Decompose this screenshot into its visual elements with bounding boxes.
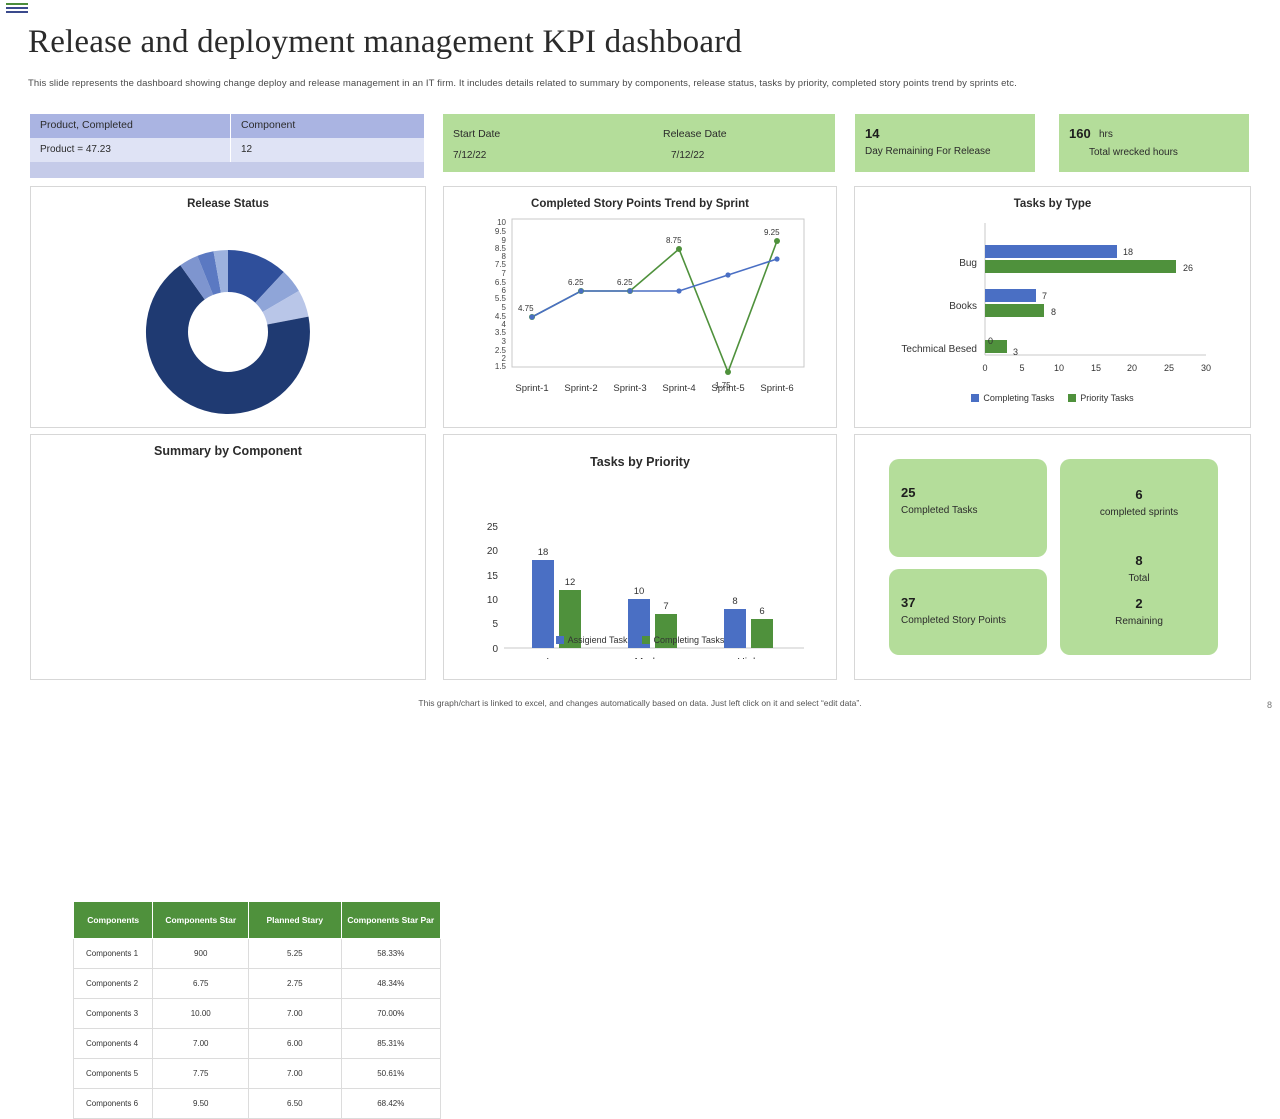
table-row: Product = 47.23 12 <box>30 138 424 162</box>
kpi-remaining-value: 2 <box>1060 596 1218 611</box>
kpi-story-points-label: Completed Story Points <box>901 615 1006 626</box>
cell-star: 6.75 <box>153 969 249 999</box>
kpi-cards-panel: 25 Completed Tasks 37 Completed Story Po… <box>854 434 1251 680</box>
th-components-star-par: Components Star Par <box>341 902 440 939</box>
cell-planned: 7.00 <box>249 1059 341 1089</box>
legend-item-completing-tasks: Completing Tasks <box>971 393 1054 403</box>
x-tick-5: 5 <box>1019 363 1024 373</box>
cell-par: 48.34% <box>341 969 440 999</box>
product-component-table: Product, Completed Component Product = 4… <box>30 114 424 178</box>
bar-value-medium-assigned: 10 <box>634 586 645 597</box>
story-points-line-chart: 10 9.5 9 8.5 8 7.5 7 6.5 6 5.5 5 4.5 4 3… <box>444 213 836 423</box>
bar-value-high-assigned: 8 <box>732 596 737 607</box>
bar-value-bug-completing: 18 <box>1123 247 1133 257</box>
footnote: This graph/chart is linked to excel, and… <box>0 698 1280 708</box>
cat-label-technical: Techmical Besed <box>901 344 977 355</box>
kpi-wrecked-hours: 160 hrs Total wrecked hours <box>1059 114 1249 172</box>
tasks-by-type-card: Tasks by Type 18 26 7 8 0 3 Bug Books Te… <box>854 186 1251 428</box>
tasks-by-type-bar-chart: 18 26 7 8 0 3 Bug Books Techmical Besed … <box>855 213 1250 403</box>
cell-par: 85.31% <box>341 1029 440 1059</box>
story-points-trend-card: Completed Story Points Trend by Sprint 1… <box>443 186 837 428</box>
table-footer-band <box>30 162 424 178</box>
release-status-donut: For tech review (1) (2.70%) In Progress … <box>31 219 425 424</box>
kpi-remaining-label: Remaining <box>1060 616 1218 627</box>
td-component-value: 12 <box>230 138 424 162</box>
tasks-by-type-title: Tasks by Type <box>855 198 1250 210</box>
x-tick-20: 20 <box>1127 363 1137 373</box>
bar-value-tech-completing: 0 <box>988 336 993 346</box>
cat-label-high: High <box>737 656 759 659</box>
logo-mark <box>0 0 32 18</box>
x-tick-15: 15 <box>1091 363 1101 373</box>
tasks-by-priority-title: Tasks by Priority <box>444 455 836 469</box>
page-title: Release and deployment management KPI da… <box>28 24 742 61</box>
release-date-value: 7/12/22 <box>671 150 704 161</box>
release-status-card: Release Status For tech review (1) (2.70… <box>30 186 426 428</box>
cell-planned: 6.00 <box>249 1029 341 1059</box>
cell-star: 9.50 <box>153 1089 249 1119</box>
table-row: Components 57.757.0050.61% <box>74 1059 441 1089</box>
point-label-6: 9.25 <box>764 228 780 237</box>
table-row: Components 26.752.7548.34% <box>74 969 441 999</box>
kpi-completed-tasks-label: Completed Tasks <box>901 505 978 516</box>
cell-component: Components 3 <box>74 999 153 1029</box>
kpi-sprints-panel: 6 completed sprints 8 Total 2 Remaining <box>1060 459 1218 655</box>
wrecked-hours-label: Total wrecked hours <box>1089 147 1178 158</box>
th-planned-stary: Planned Stary <box>249 902 341 939</box>
summary-header-row: Components Components Star Planned Stary… <box>74 902 441 939</box>
cell-par: 50.61% <box>341 1059 440 1089</box>
start-date-label: Start Date <box>453 128 500 140</box>
cell-component: Components 6 <box>74 1089 153 1119</box>
th-components-star: Components Star <box>153 902 249 939</box>
y-tick-5: 5 <box>492 619 498 630</box>
cat-label-low: Low <box>546 656 566 659</box>
svg-text:9.5: 9.5 <box>495 227 507 236</box>
x-tick-25: 25 <box>1164 363 1174 373</box>
cell-star: 7.00 <box>153 1029 249 1059</box>
svg-text:7.5: 7.5 <box>495 260 507 269</box>
tasks-by-type-legend: Completing Tasks Priority Tasks <box>855 393 1250 403</box>
cell-star: 900 <box>153 939 249 969</box>
svg-text:1.5: 1.5 <box>495 362 507 371</box>
th-components: Components <box>74 902 153 939</box>
y-tick-0: 0 <box>492 644 498 655</box>
table-row: Components 310.007.0070.00% <box>74 999 441 1029</box>
days-remaining-label: Day Remaining For Release <box>865 146 991 157</box>
x-tick-sprint-4: Sprint-4 <box>662 383 695 394</box>
svg-text:7: 7 <box>502 269 507 278</box>
th-component: Component <box>230 114 424 138</box>
cell-component: Components 2 <box>74 969 153 999</box>
kpi-total-label: Total <box>1060 573 1218 584</box>
x-tick-0: 0 <box>982 363 987 373</box>
x-tick-sprint-6: Sprint-6 <box>760 383 793 394</box>
legend-item-assigned-task: Assigiend Task <box>556 635 628 645</box>
days-remaining-value: 14 <box>865 126 879 141</box>
cat-label-books: Books <box>949 301 977 312</box>
dates-panel: Start Date Release Date 7/12/22 7/12/22 <box>443 114 835 172</box>
x-tick-sprint-3: Sprint-3 <box>613 383 646 394</box>
cell-planned: 2.75 <box>249 969 341 999</box>
cell-planned: 5.25 <box>249 939 341 969</box>
bar-value-books-completing: 7 <box>1042 291 1047 301</box>
cell-component: Components 4 <box>74 1029 153 1059</box>
bar-value-medium-completing: 7 <box>663 601 668 612</box>
svg-text:3.5: 3.5 <box>495 328 507 337</box>
kpi-completed-story-points: 37 Completed Story Points <box>889 569 1047 655</box>
point-label-1: 4.75 <box>518 304 534 313</box>
table-row: Components 47.006.0085.31% <box>74 1029 441 1059</box>
cat-label-medium: Medum <box>634 656 669 659</box>
bar-value-low-completing: 12 <box>565 577 576 588</box>
cell-planned: 7.00 <box>249 999 341 1029</box>
legend-item-completing-tasks: Completing Tasks <box>642 635 725 645</box>
svg-text:5: 5 <box>502 303 507 312</box>
page-number: 8 <box>1267 700 1272 710</box>
x-tick-30: 30 <box>1201 363 1211 373</box>
kpi-days-remaining: 14 Day Remaining For Release <box>855 114 1035 172</box>
wrecked-hours-value: 160 <box>1069 126 1091 141</box>
svg-text:10: 10 <box>497 218 506 227</box>
story-points-title: Completed Story Points Trend by Sprint <box>444 198 836 210</box>
point-label-2: 6.25 <box>568 278 584 287</box>
td-product-value: Product = 47.23 <box>30 138 230 162</box>
release-status-title: Release Status <box>31 198 425 210</box>
cell-par: 58.33% <box>341 939 440 969</box>
bar-value-low-assigned: 18 <box>538 547 549 558</box>
summary-title: Summary by Component <box>31 444 425 458</box>
x-tick-sprint-1: Sprint-1 <box>515 383 548 394</box>
y-tick-10: 10 <box>487 595 499 606</box>
bar-value-books-priority: 8 <box>1051 307 1056 317</box>
th-product-completed: Product, Completed <box>30 114 230 138</box>
tasks-by-priority-legend: Assigiend Task Completing Tasks <box>444 635 836 645</box>
x-tick-sprint-5: Sprint-5 <box>711 383 744 394</box>
legend-item-priority-tasks: Priority Tasks <box>1068 393 1133 403</box>
y-tick-20: 20 <box>487 546 499 557</box>
tasks-by-priority-card: Tasks by Priority 25 20 15 10 5 0 18 12 … <box>443 434 837 680</box>
cell-star: 10.00 <box>153 999 249 1029</box>
table-row: Components 19005.2558.33% <box>74 939 441 969</box>
page-subtitle: This slide represents the dashboard show… <box>28 78 1017 89</box>
table-header-row: Product, Completed Component <box>30 114 424 138</box>
y-tick-15: 15 <box>487 571 499 582</box>
x-tick-10: 10 <box>1054 363 1064 373</box>
kpi-story-points-value: 37 <box>901 595 915 610</box>
cell-star: 7.75 <box>153 1059 249 1089</box>
bar-value-tech-priority: 3 <box>1013 347 1018 357</box>
kpi-completed-tasks-value: 25 <box>901 485 915 500</box>
summary-by-component-card: Summary by Component Components Componen… <box>30 434 426 680</box>
x-tick-sprint-2: Sprint-2 <box>564 383 597 394</box>
cell-component: Components 1 <box>74 939 153 969</box>
svg-text:3: 3 <box>502 337 507 346</box>
cell-par: 68.42% <box>341 1089 440 1119</box>
y-tick-25: 25 <box>487 522 499 533</box>
wrecked-hours-unit: hrs <box>1099 129 1113 140</box>
svg-text:5.5: 5.5 <box>495 294 507 303</box>
cell-component: Components 5 <box>74 1059 153 1089</box>
kpi-completed-tasks: 25 Completed Tasks <box>889 459 1047 557</box>
kpi-total-value: 8 <box>1060 553 1218 568</box>
cell-par: 70.00% <box>341 999 440 1029</box>
release-date-label: Release Date <box>663 128 727 140</box>
cat-label-bug: Bug <box>959 258 977 269</box>
start-date-value: 7/12/22 <box>453 150 486 161</box>
summary-table: Components Components Star Planned Stary… <box>73 901 441 1119</box>
cell-planned: 6.50 <box>249 1089 341 1119</box>
tasks-by-priority-bar-chart: 25 20 15 10 5 0 18 12 10 7 8 6 Low Medum… <box>444 479 836 659</box>
kpi-completed-sprints-label: completed sprints <box>1060 507 1218 518</box>
table-row: Components 69.506.5068.42% <box>74 1089 441 1119</box>
point-label-4: 8.75 <box>666 236 682 245</box>
kpi-completed-sprints-value: 6 <box>1060 487 1218 502</box>
point-label-3: 6.25 <box>617 278 633 287</box>
bar-value-bug-priority: 26 <box>1183 263 1193 273</box>
bar-value-high-completing: 6 <box>759 606 764 617</box>
